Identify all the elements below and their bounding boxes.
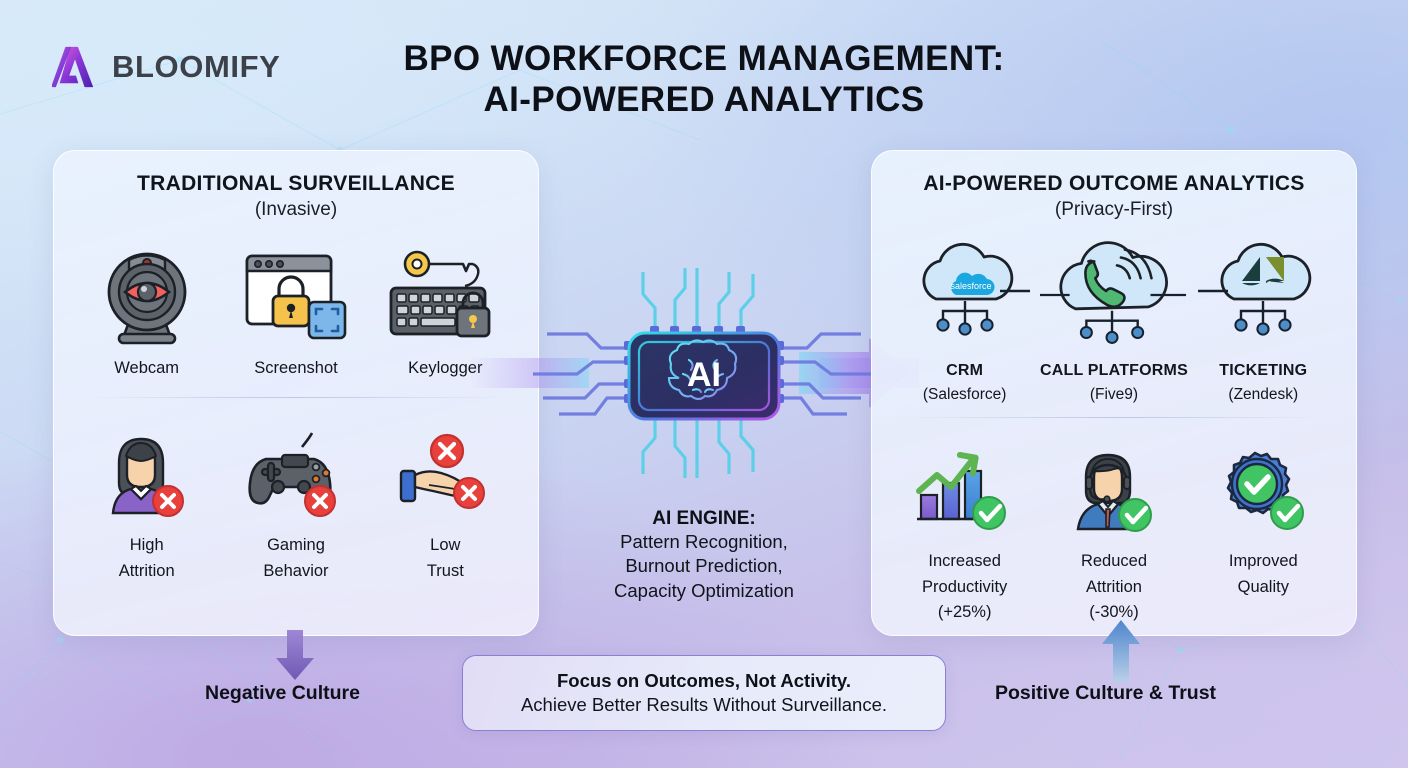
traditional-surveillance-panel: TRADITIONAL SURVEILLANCE (Invasive) xyxy=(53,150,539,636)
cloud-zendesk-icon xyxy=(1189,235,1337,355)
cell-sublabel: (Salesforce) xyxy=(891,386,1039,405)
right-panel-row-outcomes: Increased Productivity (+25%) xyxy=(872,436,1356,623)
ai-chip-brain-icon: AI xyxy=(469,240,939,510)
positive-culture-label: Positive Culture & Trust xyxy=(995,682,1216,705)
cell-high-attrition[interactable]: High Attrition xyxy=(73,420,221,582)
cell-label-line2: Attrition xyxy=(73,562,221,582)
left-panel-divider xyxy=(84,397,508,398)
right-panel-subtitle: (Privacy-First) xyxy=(872,199,1356,221)
cell-sublabel: (Zendesk) xyxy=(1189,386,1337,405)
chip-label: AI xyxy=(687,356,721,394)
brand-logo[interactable]: BLOOMIFY xyxy=(52,44,280,90)
agent-headset-check-icon xyxy=(1040,436,1188,546)
cloud-salesforce-icon: salesforce xyxy=(891,235,1039,355)
right-panel-row-platforms: salesforce CRM (Salesforce) xyxy=(872,235,1356,405)
engine-heading: AI ENGINE: xyxy=(469,508,939,530)
left-panel-title: TRADITIONAL SURVEILLANCE xyxy=(54,172,538,196)
left-panel-subtitle: (Invasive) xyxy=(54,199,538,221)
webcam-icon xyxy=(73,243,221,353)
callout-line-1: Focus on Outcomes, Not Activity. xyxy=(557,670,851,692)
negative-culture-label: Negative Culture xyxy=(205,682,360,705)
engine-line-1: Pattern Recognition, xyxy=(469,530,939,554)
gamepad-x-icon xyxy=(222,420,370,530)
cell-screenshot[interactable]: Screenshot xyxy=(222,243,370,379)
engine-line-2: Burnout Prediction, xyxy=(469,554,939,578)
cell-sublabel: (Five9) xyxy=(1040,386,1188,405)
left-panel-header: TRADITIONAL SURVEILLANCE (Invasive) xyxy=(54,151,538,221)
left-panel-row-outcomes: High Attrition xyxy=(54,420,538,582)
right-panel-header: AI-POWERED OUTCOME ANALYTICS (Privacy-Fi… xyxy=(872,151,1356,221)
cell-label: TICKETING xyxy=(1189,361,1337,380)
cell-label-line3: (+25%) xyxy=(891,603,1039,623)
cell-ticketing[interactable]: TICKETING (Zendesk) xyxy=(1189,235,1337,405)
engine-line-3: Capacity Optimization xyxy=(469,579,939,603)
right-panel-divider xyxy=(902,417,1326,418)
cell-label: CALL PLATFORMS xyxy=(1040,361,1188,380)
cell-label: CRM xyxy=(891,361,1039,380)
cell-label-line1: Reduced xyxy=(1040,552,1188,572)
cell-increased-productivity[interactable]: Increased Productivity (+25%) xyxy=(891,436,1039,623)
cell-label-line1: Improved xyxy=(1189,552,1337,572)
up-arrow-icon xyxy=(1096,620,1146,682)
cloud-phone-icon xyxy=(1040,235,1188,355)
brand-name: BLOOMIFY xyxy=(112,49,280,85)
down-arrow-icon xyxy=(268,630,322,682)
cell-label-line1: High xyxy=(73,536,221,556)
bloomify-a-mark-icon xyxy=(52,44,98,90)
cell-label: Screenshot xyxy=(222,359,370,379)
cell-call-platforms[interactable]: CALL PLATFORMS (Five9) xyxy=(1040,235,1188,405)
cell-label: Webcam xyxy=(73,359,221,379)
cell-label-line1: Gaming xyxy=(222,536,370,556)
ai-engine-visual: AI xyxy=(469,240,939,510)
cell-reduced-attrition[interactable]: Reduced Attrition (-30%) xyxy=(1040,436,1188,623)
key-message-callout: Focus on Outcomes, Not Activity. Achieve… xyxy=(462,655,946,731)
ai-outcome-analytics-panel: AI-POWERED OUTCOME ANALYTICS (Privacy-Fi… xyxy=(871,150,1357,636)
callout-line-2: Achieve Better Results Without Surveilla… xyxy=(521,694,887,716)
cell-webcam[interactable]: Webcam xyxy=(73,243,221,379)
cell-label-line2: Productivity xyxy=(891,578,1039,598)
quality-seal-check-icon xyxy=(1189,436,1337,546)
left-panel-row-surveillance: Webcam xyxy=(54,243,538,379)
cell-label-line2: Quality xyxy=(1189,578,1337,598)
person-female-x-icon xyxy=(73,420,221,530)
screenshot-lock-icon xyxy=(222,243,370,353)
cell-label-line2: Attrition xyxy=(1040,578,1188,598)
right-panel-title: AI-POWERED OUTCOME ANALYTICS xyxy=(872,172,1356,196)
cell-label-line1: Increased xyxy=(891,552,1039,572)
cell-label-line2: Behavior xyxy=(222,562,370,582)
cell-crm[interactable]: salesforce CRM (Salesforce) xyxy=(891,235,1039,405)
growth-chart-check-icon xyxy=(891,436,1039,546)
ai-engine-caption: AI ENGINE: Pattern Recognition, Burnout … xyxy=(469,508,939,603)
cell-improved-quality[interactable]: Improved Quality xyxy=(1189,436,1337,604)
salesforce-wordmark: salesforce xyxy=(950,281,991,291)
cell-gaming-behavior[interactable]: Gaming Behavior xyxy=(222,420,370,582)
